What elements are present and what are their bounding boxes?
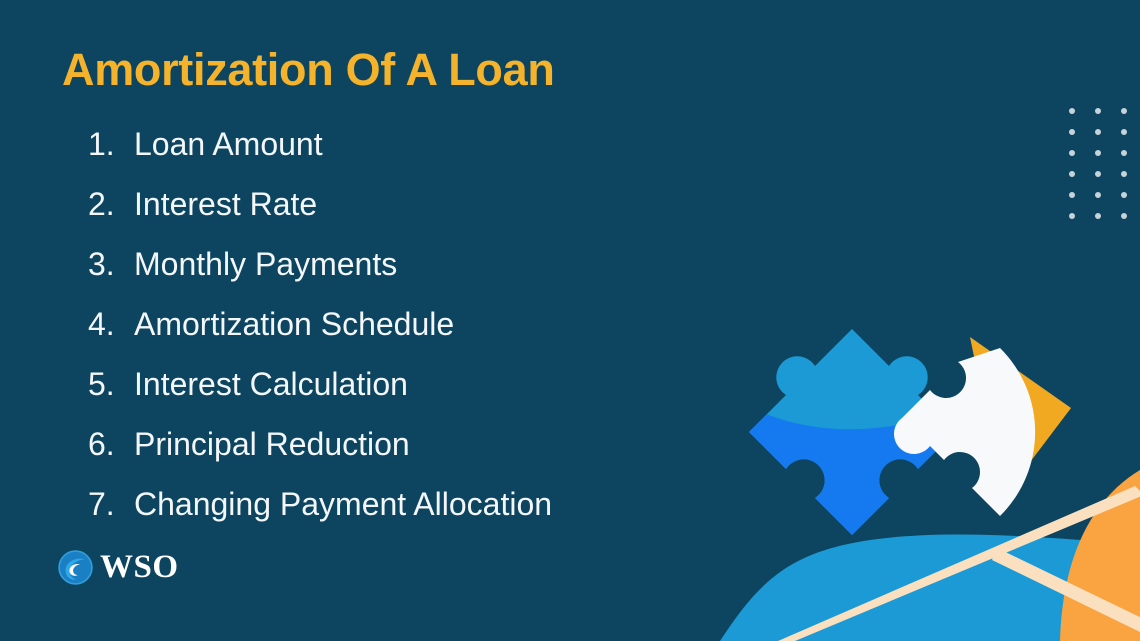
diagonal-line-shape [778, 486, 1140, 641]
list-item-label: Monthly Payments [134, 246, 397, 283]
list-item-label: Amortization Schedule [134, 306, 454, 343]
wso-logo: WSO [58, 550, 179, 585]
puzzle-piece-white [890, 330, 1090, 520]
list-item-number: 5. [88, 366, 134, 403]
wso-swirl-icon [58, 550, 93, 585]
list-item: 2. Interest Rate [88, 186, 728, 246]
list-item-number: 2. [88, 186, 134, 223]
list-item-number: 6. [88, 426, 134, 463]
list-item-number: 4. [88, 306, 134, 343]
list-item: 1. Loan Amount [88, 126, 728, 186]
list-item-label: Changing Payment Allocation [134, 486, 552, 523]
list-item-label: Interest Calculation [134, 366, 408, 403]
list-item: 7. Changing Payment Allocation [88, 486, 728, 546]
dot-grid-pattern [1069, 108, 1129, 218]
list-item: 6. Principal Reduction [88, 426, 728, 486]
list-item-label: Loan Amount [134, 126, 323, 163]
list-item-label: Interest Rate [134, 186, 317, 223]
page-title: Amortization Of A Loan [62, 44, 555, 96]
wso-wordmark: WSO [100, 551, 179, 584]
diagonal-line-shape [992, 548, 1140, 634]
list-item: 5. Interest Calculation [88, 366, 728, 426]
wave-shape [720, 535, 1140, 641]
list-item: 4. Amortization Schedule [88, 306, 728, 366]
slide-canvas: Amortization Of A Loan 1. Loan Amount 2.… [0, 0, 1140, 641]
circle-arc-shape [1060, 470, 1140, 641]
list-item-label: Principal Reduction [134, 426, 410, 463]
list-item-number: 3. [88, 246, 134, 283]
list-item-number: 1. [88, 126, 134, 163]
topic-list: 1. Loan Amount 2. Interest Rate 3. Month… [88, 126, 728, 546]
diamond-wedge-shape [970, 337, 1071, 498]
list-item-number: 7. [88, 486, 134, 523]
list-item: 3. Monthly Payments [88, 246, 728, 306]
puzzle-piece-blue [730, 315, 980, 570]
